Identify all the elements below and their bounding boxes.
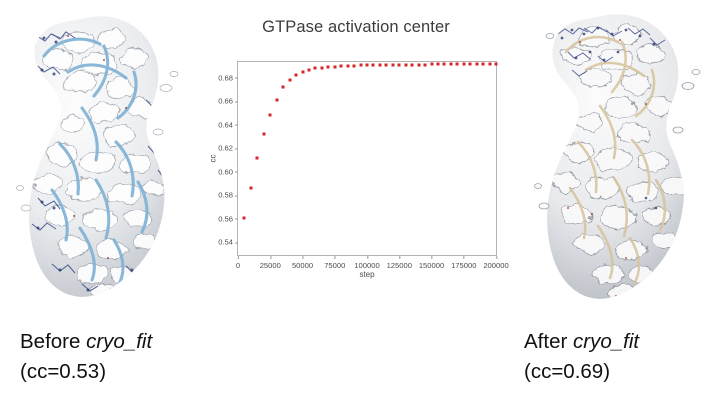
- data-point: [295, 74, 298, 77]
- molecule-image-before: [8, 12, 198, 314]
- x-axis-tick-label: 0: [236, 255, 240, 270]
- data-point: [404, 63, 407, 66]
- plot-area: [238, 62, 496, 255]
- data-point: [366, 64, 369, 67]
- data-point: [353, 64, 356, 67]
- data-point: [391, 63, 394, 66]
- caption-after-prefix: After: [524, 330, 573, 353]
- caption-after-emphasis: cryo_fit: [573, 330, 639, 353]
- x-axis-tick-label: 200000: [483, 255, 508, 270]
- y-axis-tick-label: 0.54: [218, 238, 238, 247]
- x-axis-tick-label: 175000: [451, 255, 476, 270]
- data-point: [288, 79, 291, 82]
- x-axis-tick-label: 150000: [419, 255, 444, 270]
- data-point: [262, 133, 265, 136]
- data-point: [320, 66, 323, 69]
- data-point: [256, 156, 259, 159]
- y-axis-tick-label: 0.60: [218, 167, 238, 176]
- data-point: [282, 86, 285, 89]
- data-point: [424, 63, 427, 66]
- data-point: [314, 67, 317, 70]
- y-axis-tick-label: 0.58: [218, 191, 238, 200]
- data-point: [333, 65, 336, 68]
- plot-frame: 0.540.560.580.600.620.640.660.6802500050…: [237, 61, 497, 256]
- caption-before-cryofit: Before cryo_fit (cc=0.53): [20, 327, 152, 387]
- caption-before-emphasis: cryo_fit: [86, 330, 152, 353]
- x-axis-tick-label: 100000: [354, 255, 379, 270]
- caption-after-cc: (cc=0.69): [524, 357, 639, 387]
- y-axis-label: cc: [209, 155, 218, 163]
- data-point: [443, 63, 446, 66]
- data-point: [456, 63, 459, 66]
- data-point: [462, 63, 465, 66]
- data-point: [307, 68, 310, 71]
- caption-before-prefix: Before: [20, 330, 86, 353]
- data-point: [417, 63, 420, 66]
- molecule-image-after: [528, 12, 714, 314]
- y-axis-tick-label: 0.68: [218, 73, 238, 82]
- data-point: [346, 64, 349, 67]
- data-point: [398, 63, 401, 66]
- data-point: [436, 63, 439, 66]
- y-axis-tick-label: 0.62: [218, 144, 238, 153]
- data-point: [430, 63, 433, 66]
- x-axis-tick-label: 50000: [292, 255, 313, 270]
- data-point: [269, 114, 272, 117]
- chart-title: GTPase activation center: [206, 18, 506, 37]
- caption-before-cc: (cc=0.53): [20, 357, 152, 387]
- x-axis-tick-label: 125000: [387, 255, 412, 270]
- data-point: [411, 63, 414, 66]
- data-point: [449, 63, 452, 66]
- x-axis-tick-label: 25000: [260, 255, 281, 270]
- data-point: [275, 98, 278, 101]
- data-point: [488, 63, 491, 66]
- data-point: [385, 63, 388, 66]
- cc-vs-step-scatter-chart: GTPase activation center cc 0.540.560.58…: [206, 8, 506, 300]
- x-axis-tick-label: 75000: [324, 255, 345, 270]
- caption-after-cryofit: After cryo_fit (cc=0.69): [524, 327, 639, 387]
- y-axis-tick-label: 0.64: [218, 120, 238, 129]
- y-axis-tick-label: 0.56: [218, 214, 238, 223]
- data-point: [475, 63, 478, 66]
- data-point: [469, 63, 472, 66]
- data-point: [301, 71, 304, 74]
- data-point: [243, 217, 246, 220]
- data-point: [482, 63, 485, 66]
- data-point: [249, 186, 252, 189]
- y-axis-tick-label: 0.66: [218, 97, 238, 106]
- data-point: [340, 65, 343, 68]
- data-point: [327, 66, 330, 69]
- data-point: [372, 64, 375, 67]
- data-point: [378, 64, 381, 67]
- data-point: [359, 64, 362, 67]
- data-point: [495, 63, 498, 66]
- x-axis-label: step: [237, 270, 497, 279]
